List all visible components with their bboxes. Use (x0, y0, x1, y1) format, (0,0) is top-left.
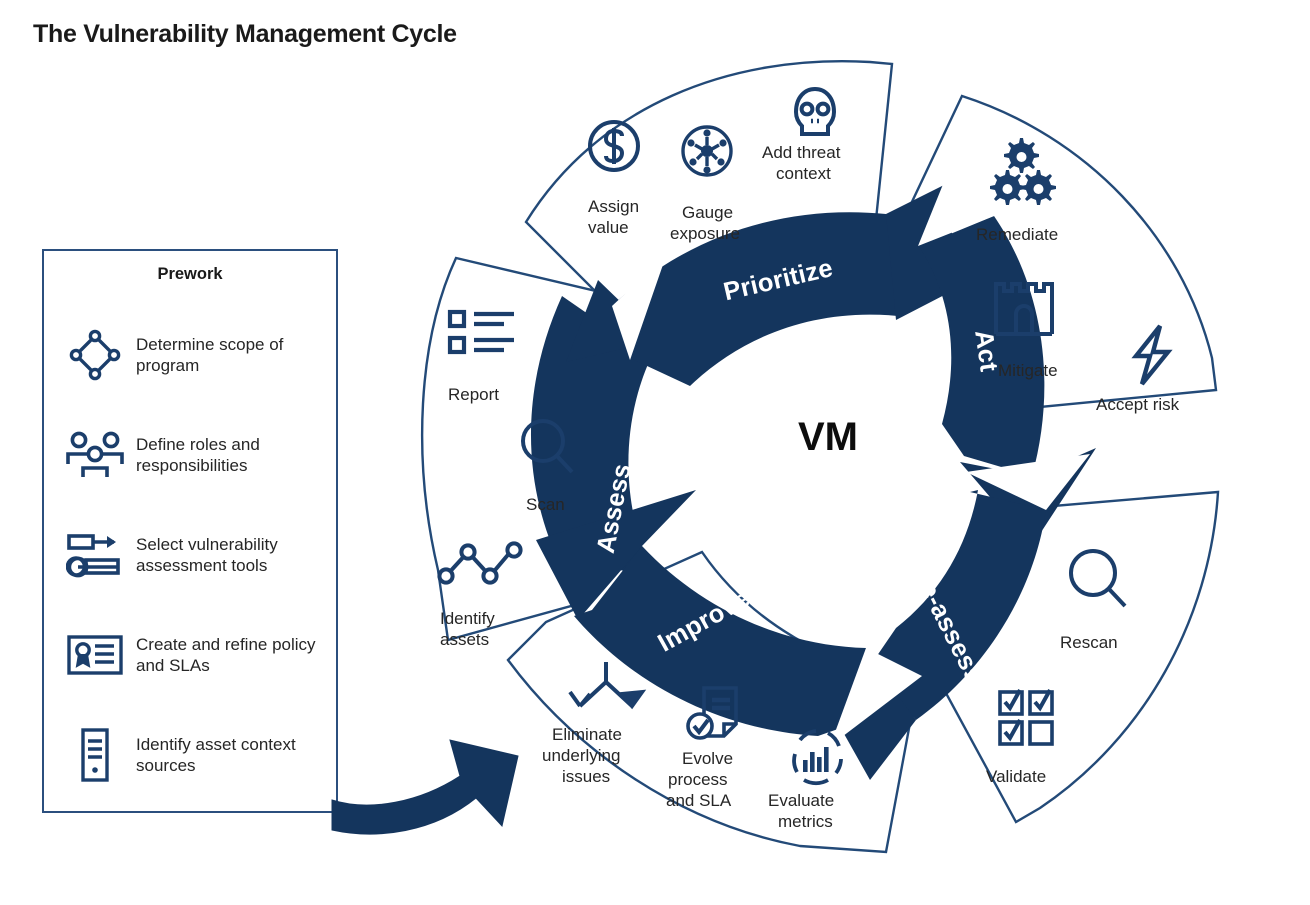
stage-item-label: Remediate (976, 225, 1058, 244)
prework-item-label: Determine scope of program (126, 334, 316, 376)
prework-item-determine-scope[interactable]: Determine scope of program (44, 305, 336, 405)
stage-item-label-line2: exposure (670, 224, 740, 243)
cycle-core-label: VM (798, 415, 858, 459)
stage-item-label: Evolve (682, 749, 733, 768)
stage-item-label: Rescan (1060, 633, 1118, 652)
stage-item-label-line3: issues (562, 767, 610, 786)
prework-item-select-tools[interactable]: Select vulnerability assessment tools (44, 505, 336, 605)
vulnerability-management-cycle: VM Assess Prioritize Act Re-assess Impro… (330, 40, 1310, 905)
stage-item-label-line2: metrics (778, 812, 833, 831)
stage-item-label-line2: context (776, 164, 831, 183)
prework-item-label: Create and refine policy and SLAs (126, 634, 316, 676)
stage-item-label: Identify (440, 609, 495, 628)
prework-item-label: Identify asset context sources (126, 734, 316, 776)
prework-heading: Prework (44, 265, 336, 284)
stage-item-label-line2: assets (440, 630, 489, 649)
network-nodes-diamond-icon (64, 326, 126, 384)
prework-item-identify-context[interactable]: Identify asset context sources (44, 705, 336, 805)
stage-item-label: Eliminate (552, 725, 622, 744)
stage-item-label-line2: value (588, 218, 629, 237)
stage-item-label: Scan (526, 495, 565, 514)
stage-item-label: Add threat (762, 143, 841, 162)
prework-item-create-policy[interactable]: Create and refine policy and SLAs (44, 605, 336, 705)
stage-item-label: Validate (986, 767, 1046, 786)
stage-item-label-line3: and SLA (666, 791, 732, 810)
prework-item-label: Define roles and responsibilities (126, 434, 316, 476)
people-group-icon (64, 426, 126, 484)
prework-list: Determine scope of program Define roles … (44, 305, 336, 805)
stage-item-label: Mitigate (998, 361, 1058, 380)
stage-item-label: Assign (588, 197, 639, 216)
certificate-document-icon (64, 626, 126, 684)
prework-panel: Prework Determine scope of program (42, 249, 338, 813)
stage-item-label: Accept risk (1096, 395, 1180, 414)
tools-wrench-slider-icon (64, 526, 126, 584)
stage-item-label-line2: process (668, 770, 728, 789)
stage-item-label: Gauge (682, 203, 733, 222)
prework-to-cycle-arrow (332, 740, 518, 834)
stage-item-label: Report (448, 385, 499, 404)
prework-item-label: Select vulnerability assessment tools (126, 534, 316, 576)
server-rack-icon (64, 726, 126, 784)
stage-item-label: Evaluate (768, 791, 834, 810)
prework-item-define-roles[interactable]: Define roles and responsibilities (44, 405, 336, 505)
stage-item-label-line2: underlying (542, 746, 620, 765)
